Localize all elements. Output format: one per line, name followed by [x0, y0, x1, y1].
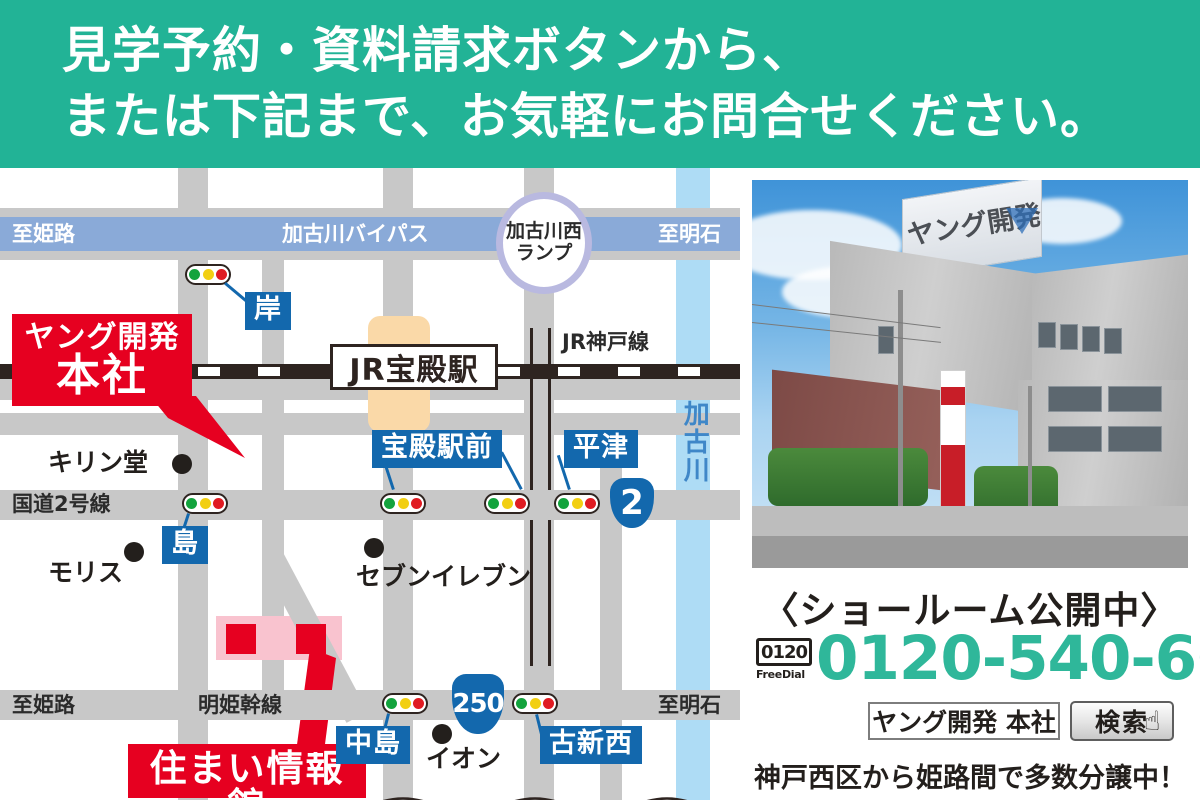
- access-map-banner: 見学予約・資料請求ボタンから、 または下記まで、お気軽にお問合せください。 至姫…: [0, 0, 1200, 800]
- cursor-pointer-icon: ☝: [1144, 706, 1160, 737]
- tagline: 神戸西区から姫路間で多数分譲中！: [740, 756, 1200, 795]
- poi-dot-kirindo: [172, 454, 192, 474]
- rail-tie: [558, 367, 580, 376]
- signal-green: [516, 698, 527, 709]
- rail-tie: [198, 367, 220, 376]
- building-window: [1060, 324, 1078, 350]
- signal-red: [585, 498, 596, 509]
- building-window: [1104, 328, 1122, 354]
- contact-panel: ヤング開発: [740, 168, 1200, 800]
- traffic-signal-koshinnishi: [512, 693, 558, 714]
- meiki-kansen-label: 明姫幹線: [198, 695, 282, 716]
- building-window: [1108, 426, 1162, 452]
- poi-dot-aeon: [432, 724, 452, 744]
- award-banner-mid: [941, 445, 965, 507]
- building-window: [1048, 386, 1102, 412]
- poi-label-aeon: イオン: [426, 746, 501, 771]
- company-logo-mark: [1004, 204, 1040, 238]
- building-window: [1038, 322, 1056, 348]
- signal-red: [216, 269, 227, 280]
- rail-tie: [498, 367, 520, 376]
- ramp-line-1: 加古川西: [506, 221, 582, 243]
- signal-red: [543, 698, 554, 709]
- signal-red: [411, 498, 422, 509]
- traffic-signal-kishi: [185, 264, 231, 285]
- intersection-label-kishi[interactable]: 岸: [245, 292, 291, 330]
- callout-head-office-line2: 本社: [12, 353, 192, 399]
- hedge: [768, 448, 928, 506]
- meiki-west-label: 至姫路: [12, 695, 75, 716]
- intersection-label-hodenekimae[interactable]: 宝殿駅前: [372, 430, 502, 468]
- route2-road-label: 国道2号線: [12, 494, 111, 515]
- signal-red: [413, 698, 424, 709]
- street-light: [1028, 386, 1032, 516]
- meiki-kansen-road: [0, 690, 740, 720]
- signal-green: [386, 698, 397, 709]
- poi-dot-seveneleven: [364, 538, 384, 558]
- intersection-label-nakajima[interactable]: 中島: [336, 726, 410, 764]
- street: [752, 536, 1188, 568]
- signal-green: [384, 498, 395, 509]
- traffic-signal-hiratsu: [554, 493, 600, 514]
- meiki-east-label: 至明石: [658, 695, 721, 716]
- rail-tie: [258, 367, 280, 376]
- traffic-signal-shima: [182, 493, 228, 514]
- poi-label-morris: モリス: [48, 560, 123, 585]
- signal-red: [515, 498, 526, 509]
- utility-pole: [898, 290, 903, 520]
- bypass-label-east: 至明石: [658, 224, 721, 245]
- intersection-label-hiratsu[interactable]: 平津: [564, 430, 638, 468]
- office-building-photo: ヤング開発: [752, 180, 1188, 568]
- poi-label-kirindo: キリン堂: [48, 450, 148, 475]
- building-window: [1082, 326, 1100, 352]
- signal-yellow: [200, 498, 211, 509]
- bypass-label-name: 加古川バイパス: [282, 224, 429, 245]
- sidewalk: [752, 506, 1188, 540]
- callout-head-office-tail: [150, 396, 260, 458]
- callout-head-office[interactable]: ヤング開発 本社: [12, 314, 192, 406]
- signal-yellow: [400, 698, 411, 709]
- signal-yellow: [530, 698, 541, 709]
- bypass-label-west: 至姫路: [12, 224, 75, 245]
- signal-green: [189, 269, 200, 280]
- phone-number[interactable]: 0120-540-661: [816, 628, 1200, 689]
- search-input[interactable]: ヤング開発 本社: [868, 702, 1060, 740]
- callout-sumai-joho-kan[interactable]: 住まい情報館: [128, 744, 366, 798]
- rail-tie: [618, 367, 640, 376]
- signal-yellow: [572, 498, 583, 509]
- location-map[interactable]: 至姫路 加古川バイパス 至明石 加古川西 ランプ 岸 JR宝殿駅 JR神戸線: [0, 168, 740, 800]
- header-line-2: または下記まで、お気軽にお問合せください。: [62, 92, 1110, 141]
- freedial-logo: 0120: [756, 638, 812, 666]
- station-jr-hoden[interactable]: JR宝殿駅: [330, 344, 498, 390]
- route-shield-250: 250: [452, 674, 504, 734]
- header-line-1: 見学予約・資料請求ボタンから、: [62, 26, 812, 75]
- signal-yellow: [203, 269, 214, 280]
- traffic-signal-hodenekimae: [380, 493, 426, 514]
- freedial-logo-label: FreeDial: [756, 668, 805, 681]
- building-window: [1048, 426, 1102, 452]
- header-banner: 見学予約・資料請求ボタンから、 または下記まで、お気軽にお問合せください。: [0, 0, 1200, 168]
- building-marker-honsha[interactable]: [226, 624, 256, 654]
- railway-line-name: JR神戸線: [562, 326, 649, 356]
- signal-green: [558, 498, 569, 509]
- signal-green: [186, 498, 197, 509]
- callout-head-office-line1: ヤング開発: [12, 322, 192, 353]
- intersection-label-shima[interactable]: 島: [162, 526, 208, 564]
- poi-dot-morris: [124, 542, 144, 562]
- building-window: [878, 326, 894, 354]
- river-label: 加古川: [680, 400, 707, 484]
- poi-label-seveneleven: セブンイレブン: [356, 564, 531, 589]
- ramp-line-2: ランプ: [516, 243, 572, 265]
- leader-hiratsu-a: [500, 452, 522, 490]
- traffic-signal-mid: [484, 493, 530, 514]
- award-banner-top: [941, 387, 965, 405]
- signal-yellow: [398, 498, 409, 509]
- signal-yellow: [502, 498, 513, 509]
- signal-green: [488, 498, 499, 509]
- intersection-label-koshinnishi[interactable]: 古新西: [540, 726, 642, 764]
- river-wave-break: [370, 794, 740, 800]
- traffic-signal-nakajima: [382, 693, 428, 714]
- route-shield-2: 2: [610, 478, 654, 528]
- kakogawa-nishi-ramp[interactable]: 加古川西 ランプ: [496, 192, 592, 294]
- signal-red: [213, 498, 224, 509]
- building-window: [1108, 386, 1162, 412]
- rail-tie: [678, 367, 700, 376]
- award-banner: [940, 370, 966, 520]
